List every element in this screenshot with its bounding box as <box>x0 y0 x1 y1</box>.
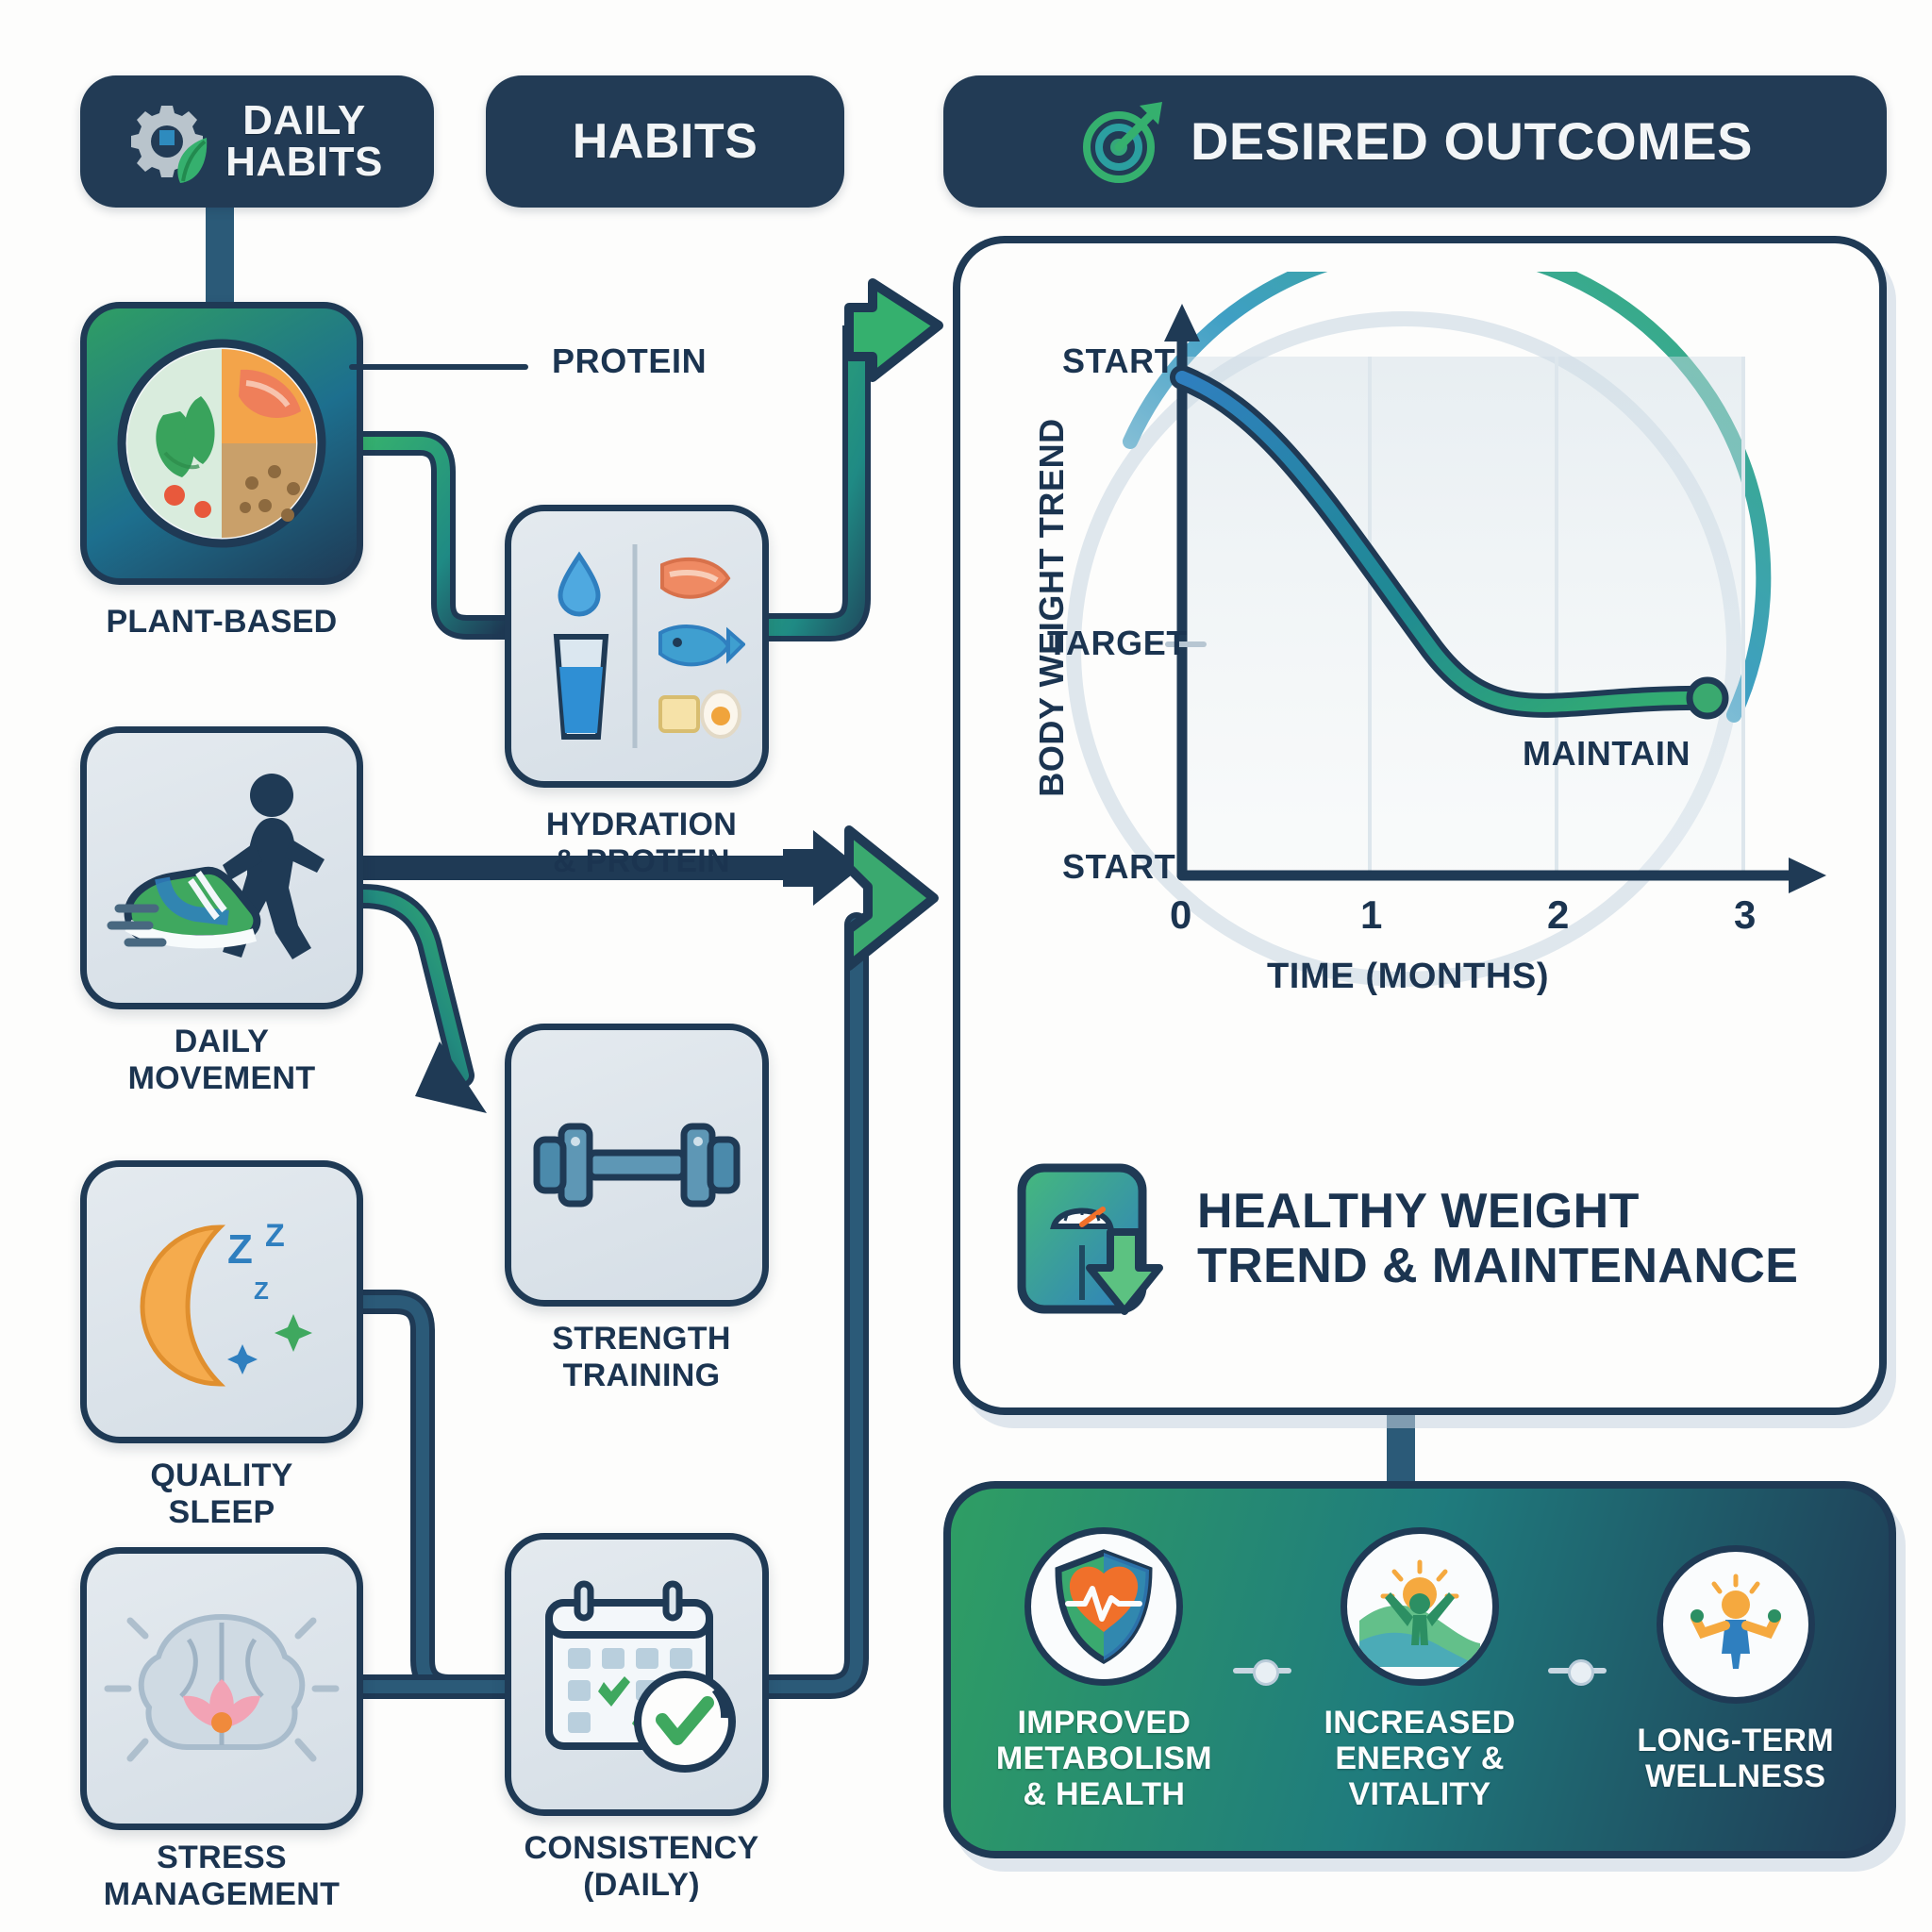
habit-card-hydration-protein[interactable] <box>505 505 769 788</box>
chart-x-axis-title: TIME (MONTHS) <box>1267 957 1549 997</box>
svg-text:Z: Z <box>254 1276 269 1305</box>
weight-scale-down-arrow-icon <box>1012 1158 1169 1319</box>
chart-xtick-1: 1 <box>1360 892 1383 938</box>
outcome-label-improved-metabolism: IMPROVED METABOLISM & HEALTH <box>996 1705 1212 1812</box>
shield-heartbeat-icon <box>1024 1527 1183 1686</box>
chart-xtick-2: 2 <box>1547 892 1570 938</box>
outcome-increased-energy[interactable]: INCREASED ENERGY & VITALITY <box>1291 1527 1549 1812</box>
habit-card-quality-sleep[interactable]: Z Z Z <box>80 1160 363 1443</box>
habit-label-daily-movement: DAILYMOVEMENT <box>42 1024 401 1097</box>
chart-y-axis-title: BODY WEIGHT TREND <box>1032 405 1072 810</box>
habit-label-quality-sleep: QUALITYSLEEP <box>42 1457 401 1531</box>
habits-header-pill[interactable]: HABITS <box>486 75 844 208</box>
svg-text:Z: Z <box>265 1218 285 1254</box>
daily-habits-header-pill[interactable]: DAILYHABITS <box>80 75 434 208</box>
target-arrow-icon <box>1077 96 1168 187</box>
desired-outcomes-label: DESIRED OUTCOMES <box>1191 115 1753 168</box>
outcome-connector-2 <box>1548 1663 1607 1676</box>
healthy-weight-summary: HEALTHY WEIGHTTREND & MAINTENANCE <box>1012 1149 1861 1328</box>
svg-text:Z: Z <box>227 1226 253 1273</box>
plate-of-food-icon <box>108 330 335 557</box>
chart-xtick-3: 3 <box>1734 892 1757 938</box>
outcomes-bar: IMPROVED METABOLISM & HEALTH <box>943 1481 1896 1858</box>
habit-label-consistency: CONSISTENCY(DAILY) <box>472 1830 811 1904</box>
calendar-check-icon <box>528 1571 745 1778</box>
habit-card-consistency[interactable] <box>505 1533 769 1816</box>
outcome-label-long-term-wellness: LONG-TERM WELLNESS <box>1637 1723 1834 1794</box>
walking-shoe-icon <box>104 759 340 976</box>
habit-card-daily-movement[interactable] <box>80 726 363 1009</box>
protein-callout-line <box>349 364 528 370</box>
habit-card-strength-training[interactable] <box>505 1024 769 1307</box>
habit-card-stress-management[interactable] <box>80 1547 363 1830</box>
habit-label-hydration-protein: HYDRATION& PROTEIN <box>472 807 811 880</box>
healthy-weight-title: HEALTHY WEIGHTTREND & MAINTENANCE <box>1197 1184 1798 1293</box>
panel-to-outcomes-stem <box>1387 1407 1415 1491</box>
chart-ylabel-start-bottom: START <box>1062 847 1175 887</box>
moon-zzz-icon: Z Z Z <box>108 1203 335 1401</box>
strong-person-icon <box>1657 1545 1815 1704</box>
outcome-label-increased-energy: INCREASED ENERGY & VITALITY <box>1324 1705 1516 1812</box>
gear-leaf-icon <box>131 98 212 185</box>
daily-habits-stem <box>206 202 234 310</box>
habit-label-stress-management: STRESSMANAGEMENT <box>33 1840 410 1913</box>
dumbbell-icon <box>524 1094 750 1236</box>
sunrise-person-icon <box>1341 1527 1499 1686</box>
outcome-connector-1 <box>1233 1663 1291 1676</box>
chart-endpoint-label-maintain: MAINTAIN <box>1523 734 1690 774</box>
chart-ylabel-start-top: START <box>1062 341 1175 381</box>
desired-outcomes-header-pill[interactable]: DESIRED OUTCOMES <box>943 75 1887 208</box>
brain-lotus-icon <box>104 1585 340 1792</box>
chart-xtick-0: 0 <box>1170 892 1192 938</box>
outcome-long-term-wellness[interactable]: LONG-TERM WELLNESS <box>1607 1545 1864 1794</box>
daily-habits-label: DAILYHABITS <box>225 100 383 183</box>
protein-callout-label: PROTEIN <box>552 341 707 381</box>
water-and-protein-icon <box>528 533 745 759</box>
weight-trend-chart[interactable]: START TARGET START MAINTAIN BODY WEIGHT … <box>989 272 1866 1074</box>
habit-card-plant-based[interactable] <box>80 302 363 585</box>
outcome-improved-metabolism[interactable]: IMPROVED METABOLISM & HEALTH <box>975 1527 1233 1812</box>
habit-label-plant-based: PLANT-BASED <box>42 604 401 641</box>
habit-label-strength-training: STRENGTHTRAINING <box>476 1321 807 1394</box>
outcome-panel: START TARGET START MAINTAIN BODY WEIGHT … <box>953 236 1887 1415</box>
habits-label: HABITS <box>573 117 758 166</box>
